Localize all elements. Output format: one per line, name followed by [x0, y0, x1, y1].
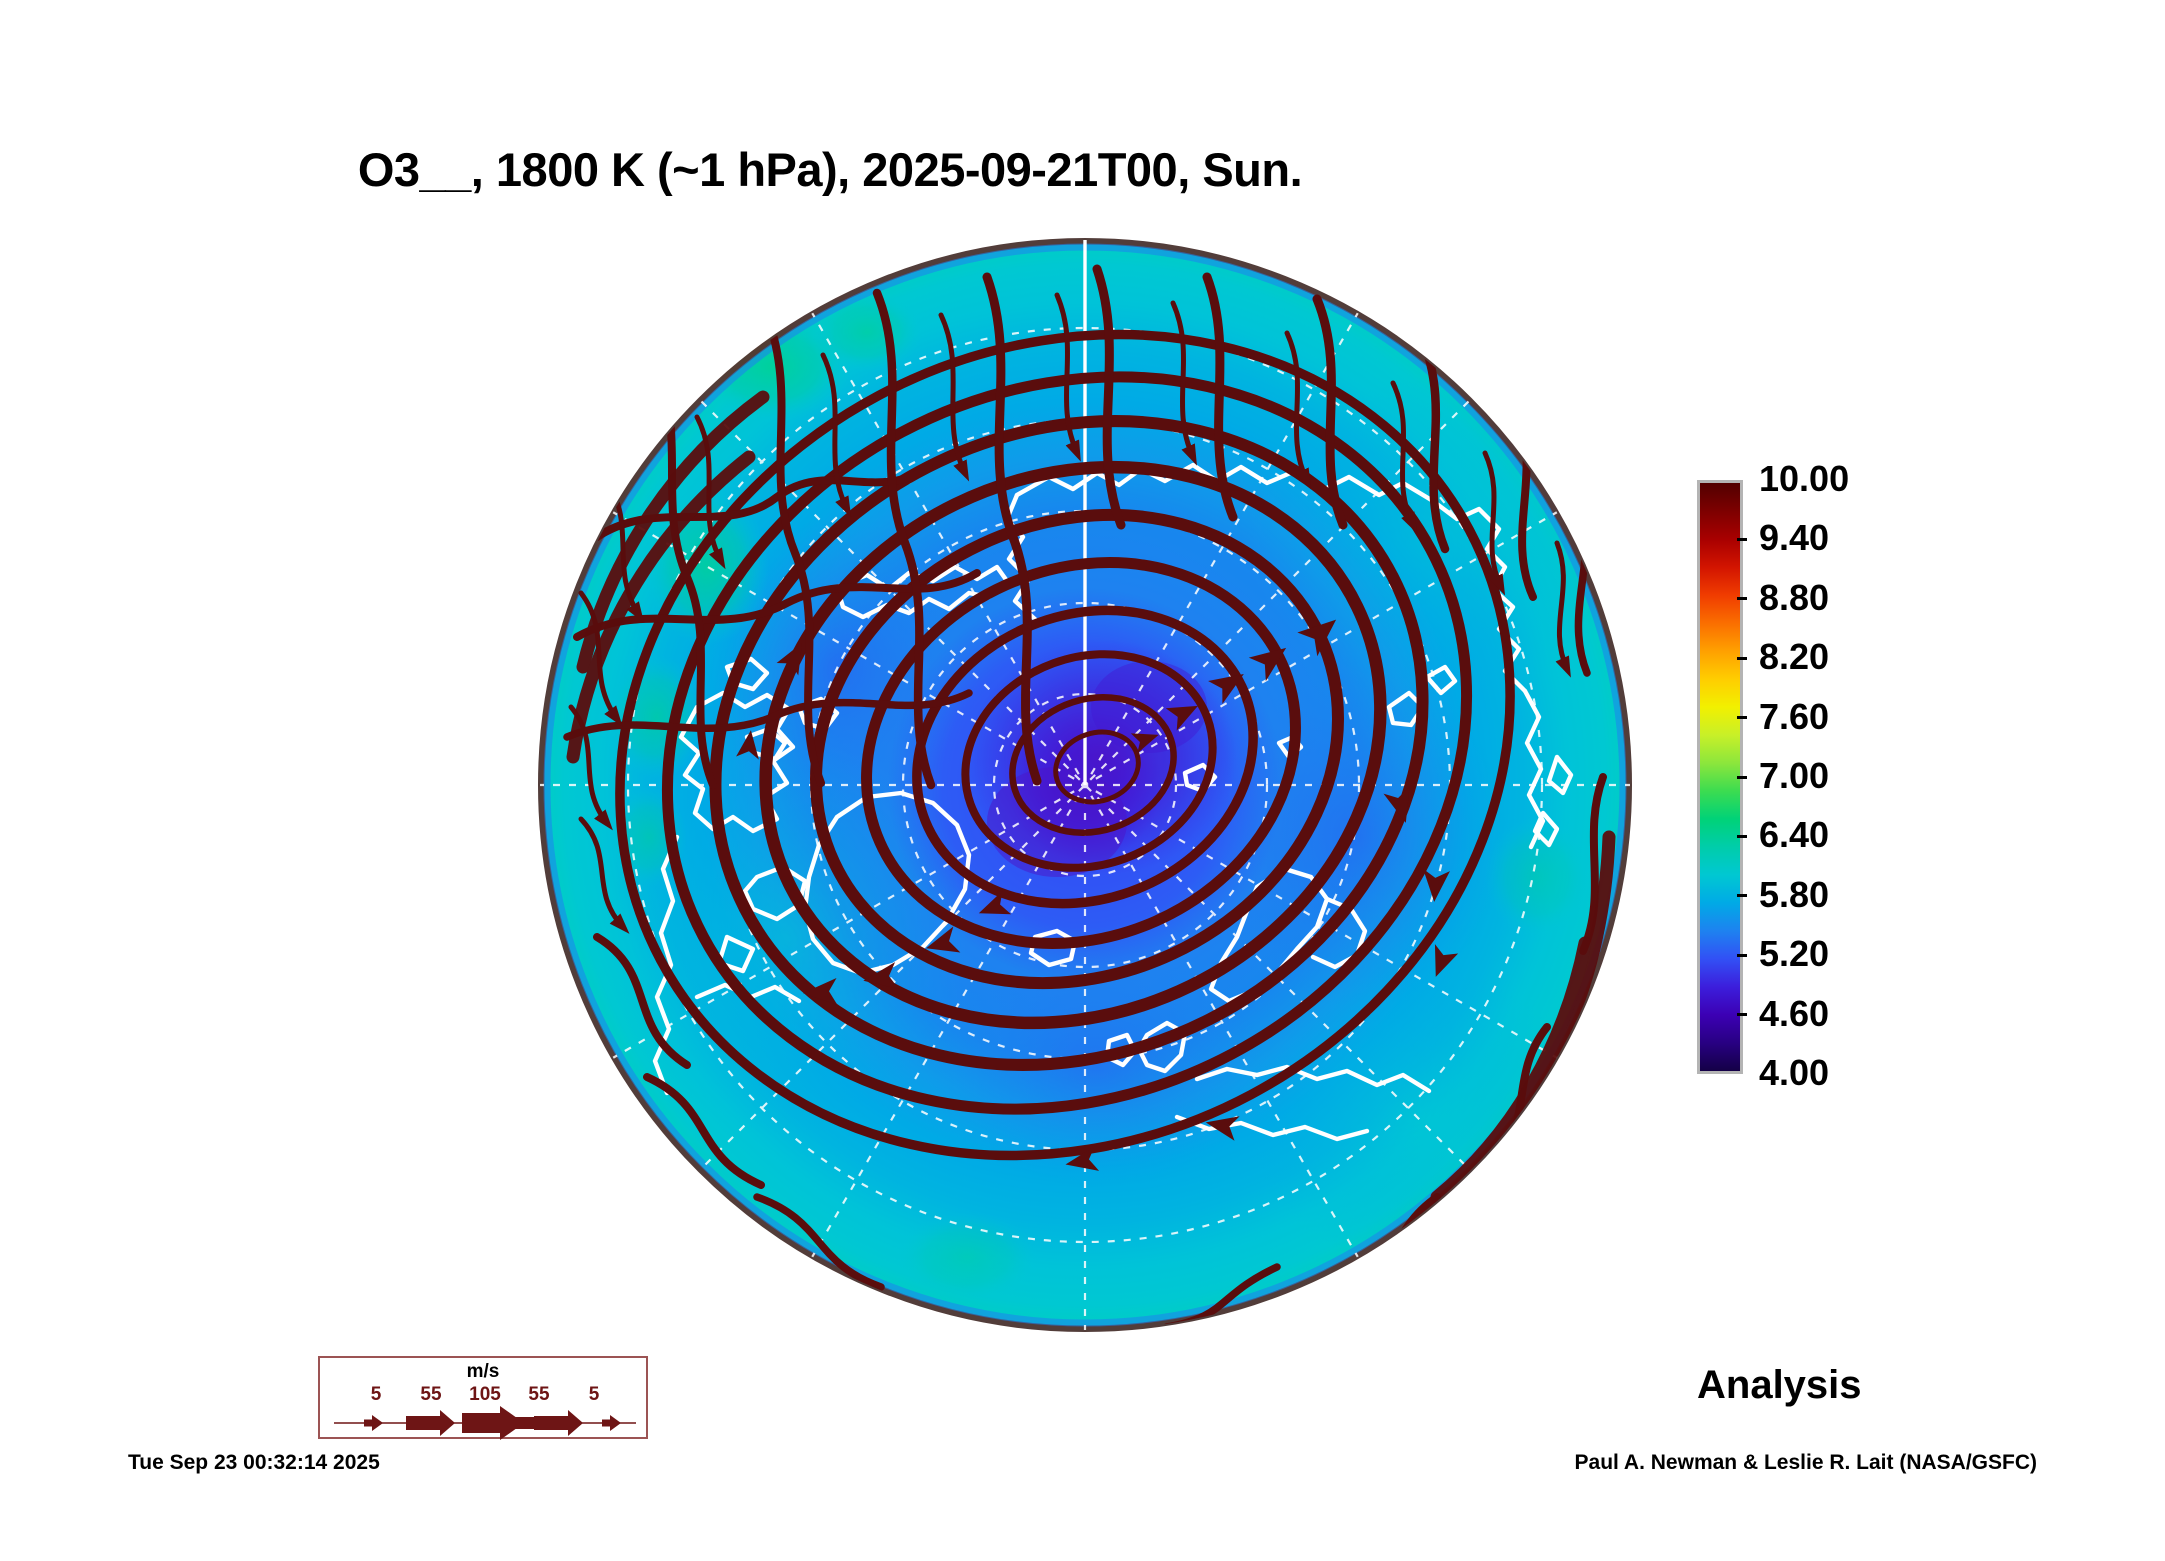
plot-root: O3__, 1800 K (~1 hPa), 2025-09-21T00, Su… — [0, 0, 2165, 1561]
colorbar-tick-label: 8.20 — [1759, 639, 1829, 675]
wind-legend-units: m/s — [320, 1361, 646, 1383]
colorbar: 10.009.408.808.207.607.006.405.805.204.6… — [1697, 480, 2097, 1080]
author-credit: Paul A. Newman & Leslie R. Lait (NASA/GS… — [1575, 1451, 2037, 1475]
colorbar-tick-label: 7.60 — [1759, 699, 1829, 735]
page-title: O3__, 1800 K (~1 hPa), 2025-09-21T00, Su… — [0, 142, 1660, 197]
wind-speed-legend: m/s 555105555 — [318, 1356, 648, 1439]
colorbar-tick-label: 10.00 — [1759, 461, 1849, 497]
colorbar-gradient — [1700, 483, 1740, 1071]
colorbar-tick-label: 8.80 — [1759, 580, 1829, 616]
colorbar-tick — [1737, 835, 1747, 838]
polar-map — [537, 237, 1633, 1333]
analysis-label: Analysis — [1697, 1363, 1862, 1408]
colorbar-tick-label: 6.40 — [1759, 817, 1829, 853]
colorbar-tick-label: 4.00 — [1759, 1055, 1829, 1091]
colorbar-tick — [1737, 538, 1747, 541]
colorbar-tick — [1737, 716, 1747, 719]
globe-svg — [537, 237, 1633, 1333]
render-timestamp: Tue Sep 23 00:32:14 2025 — [128, 1451, 380, 1475]
wind-arrow-svg — [320, 1406, 650, 1440]
colorbar-tick-label: 5.80 — [1759, 877, 1829, 913]
colorbar-tick-label: 4.60 — [1759, 996, 1829, 1032]
wind-legend-value: 55 — [528, 1384, 549, 1406]
colorbar-tick — [1737, 1013, 1747, 1016]
colorbar-tick — [1737, 894, 1747, 897]
colorbar-tick-label: 5.20 — [1759, 936, 1829, 972]
wind-legend-value: 5 — [589, 1384, 600, 1406]
colorbar-tick — [1737, 597, 1747, 600]
colorbar-tick-label: 9.40 — [1759, 520, 1829, 556]
wind-legend-value: 5 — [371, 1384, 382, 1406]
colorbar-tick — [1737, 954, 1747, 957]
wind-legend-value: 55 — [420, 1384, 441, 1406]
colorbar-tick-label: 7.00 — [1759, 758, 1829, 794]
wind-legend-value: 105 — [469, 1384, 501, 1406]
colorbar-tick — [1737, 657, 1747, 660]
colorbar-tick — [1737, 776, 1747, 779]
wind-legend-arrow-scale — [320, 1406, 646, 1440]
